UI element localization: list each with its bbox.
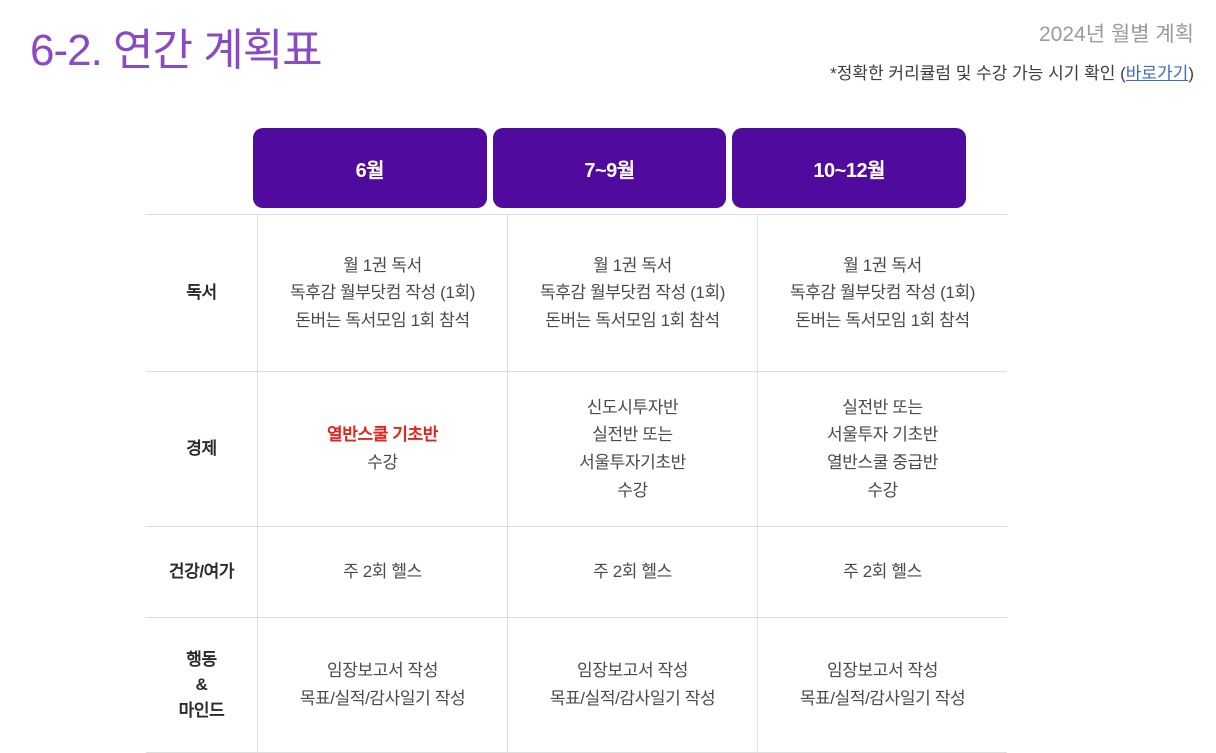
- cell-line: 수강: [514, 477, 751, 505]
- table-cell: 신도시투자반실전반 또는서울투자기초반수강: [508, 372, 758, 527]
- cell-line: 열반스쿨 중급반: [764, 449, 1001, 477]
- column-header-button[interactable]: 10~12월: [732, 128, 966, 208]
- cell-line: 목표/실적/감사일기 작성: [764, 685, 1001, 713]
- annual-plan-table: 6월7~9월10~12월 독서월 1권 독서독후감 월부닷컴 작성 (1회)돈버…: [146, 128, 966, 753]
- cell-line: 신도시투자반: [514, 394, 751, 422]
- table-cell: 주 2회 헬스: [758, 527, 1008, 618]
- cell-line: 목표/실적/감사일기 작성: [514, 685, 751, 713]
- table-cell: 임장보고서 작성목표/실적/감사일기 작성: [758, 618, 1008, 753]
- table-cell: 월 1권 독서독후감 월부닷컴 작성 (1회)돈버는 독서모임 1회 참석: [758, 215, 1008, 372]
- cell-line: 수강: [764, 477, 1001, 505]
- cell-line: 주 2회 헬스: [764, 558, 1001, 586]
- cell-line: 실전반 또는: [514, 421, 751, 449]
- cell-line: 목표/실적/감사일기 작성: [264, 685, 501, 713]
- table-cell: 월 1권 독서독후감 월부닷컴 작성 (1회)돈버는 독서모임 1회 참석: [258, 215, 508, 372]
- cell-line: 돈버는 독서모임 1회 참석: [514, 307, 751, 335]
- plan-grid: 독서월 1권 독서독후감 월부닷컴 작성 (1회)돈버는 독서모임 1회 참석월…: [146, 214, 1007, 753]
- table-cell: 주 2회 헬스: [508, 527, 758, 618]
- table-cell: 열반스쿨 기초반수강: [258, 372, 508, 527]
- header-note: *정확한 커리큘럼 및 수강 가능 시기 확인 (바로가기): [830, 59, 1194, 84]
- cell-line: 서울투자 기초반: [764, 421, 1001, 449]
- cell-line: 임장보고서 작성: [764, 657, 1001, 685]
- row-label: 경제: [146, 372, 258, 527]
- column-header-button[interactable]: 6월: [253, 128, 487, 208]
- cell-line: 주 2회 헬스: [264, 558, 501, 586]
- cell-line: 돈버는 독서모임 1회 참석: [264, 307, 501, 335]
- table-row: 독서월 1권 독서독후감 월부닷컴 작성 (1회)돈버는 독서모임 1회 참석월…: [146, 215, 1007, 372]
- table-cell: 임장보고서 작성목표/실적/감사일기 작성: [258, 618, 508, 753]
- cell-line: 월 1권 독서: [764, 252, 1001, 280]
- page-title: 6-2. 연간 계획표: [30, 14, 322, 78]
- cell-line: 월 1권 독서: [264, 252, 501, 280]
- page-header: 6-2. 연간 계획표 2024년 월별 계획 *정확한 커리큘럼 및 수강 가…: [0, 0, 1216, 110]
- column-header-button[interactable]: 7~9월: [493, 128, 727, 208]
- table-row: 행동&마인드임장보고서 작성목표/실적/감사일기 작성임장보고서 작성목표/실적…: [146, 618, 1007, 753]
- header-note-suffix: ): [1188, 64, 1194, 83]
- row-label: 건강/여가: [146, 527, 258, 618]
- column-header-row: 6월7~9월10~12월: [146, 128, 966, 214]
- cell-line: 월 1권 독서: [514, 252, 751, 280]
- table-row: 건강/여가주 2회 헬스주 2회 헬스주 2회 헬스: [146, 527, 1007, 618]
- row-label: 행동&마인드: [146, 618, 258, 753]
- cell-line: 수강: [264, 449, 501, 477]
- cell-line: 돈버는 독서모임 1회 참석: [764, 307, 1001, 335]
- cell-line: 서울투자기초반: [514, 449, 751, 477]
- cell-line: 실전반 또는: [764, 394, 1001, 422]
- table-cell: 주 2회 헬스: [258, 527, 508, 618]
- curriculum-link[interactable]: 바로가기: [1126, 64, 1189, 83]
- cell-line: 임장보고서 작성: [264, 657, 501, 685]
- cell-line-highlight: 열반스쿨 기초반: [264, 421, 501, 449]
- header-note-prefix: *정확한 커리큘럼 및 수강 가능 시기 확인 (: [830, 64, 1126, 83]
- table-cell: 월 1권 독서독후감 월부닷컴 작성 (1회)돈버는 독서모임 1회 참석: [508, 215, 758, 372]
- cell-line: 주 2회 헬스: [514, 558, 751, 586]
- header-meta: 2024년 월별 계획 *정확한 커리큘럼 및 수강 가능 시기 확인 (바로가…: [830, 22, 1194, 84]
- table-cell: 임장보고서 작성목표/실적/감사일기 작성: [508, 618, 758, 753]
- cell-line: 임장보고서 작성: [514, 657, 751, 685]
- row-label: 독서: [146, 215, 258, 372]
- table-row: 경제열반스쿨 기초반수강신도시투자반실전반 또는서울투자기초반수강실전반 또는서…: [146, 372, 1007, 527]
- cell-line: 독후감 월부닷컴 작성 (1회): [514, 279, 751, 307]
- cell-line: 독후감 월부닷컴 작성 (1회): [764, 279, 1001, 307]
- cell-line: 독후감 월부닷컴 작성 (1회): [264, 279, 501, 307]
- table-cell: 실전반 또는서울투자 기초반열반스쿨 중급반수강: [758, 372, 1008, 527]
- header-subtitle: 2024년 월별 계획: [830, 22, 1194, 48]
